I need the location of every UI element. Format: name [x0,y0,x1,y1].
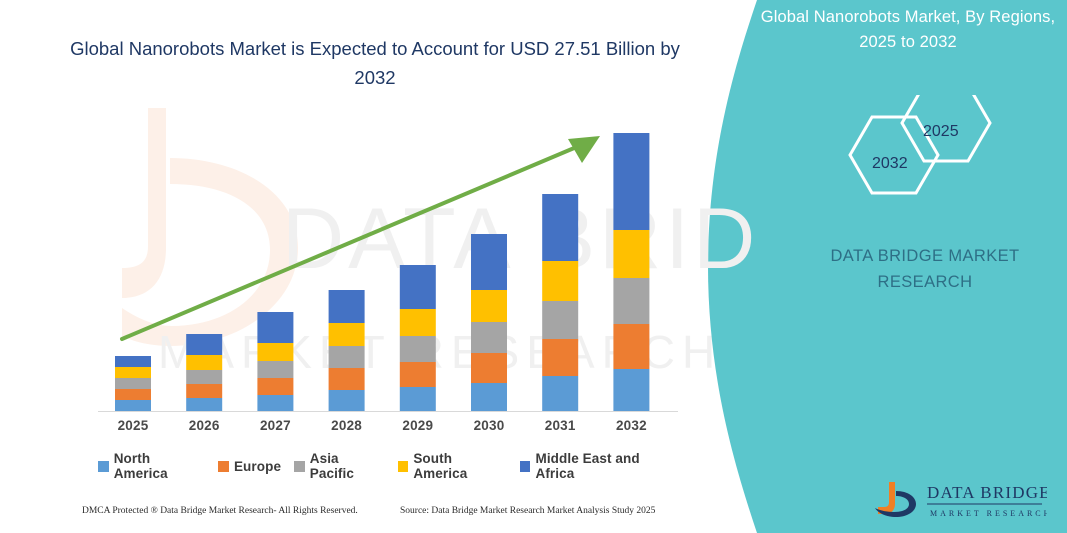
bar-segment [400,336,436,362]
bar-segment [186,370,222,384]
bar-segment [542,301,578,339]
bar-segment [257,395,293,411]
x-axis-label: 2027 [240,418,310,433]
bar-segment [329,390,365,411]
bar-segment [257,361,293,378]
bar-segment [400,265,436,309]
bar-segment [186,398,222,411]
legend-swatch-icon [294,461,305,472]
stacked-bar-chart [0,0,760,470]
bar-segment [471,290,507,322]
bar-segment [613,369,649,411]
hexagon-2032-label: 2032 [872,155,908,173]
legend-swatch-icon [218,461,229,472]
infographic-root: Global Nanorobots Market, By Regions, 20… [0,0,1067,533]
bar-segment [329,323,365,346]
bar-segment [115,356,151,367]
x-axis-label: 2031 [525,418,595,433]
data-bridge-logo: DATA BRIDGE MARKET RESEARCH [872,478,1047,522]
bar-segment [115,378,151,389]
logo-name-main: DATA BRIDGE [927,483,1047,502]
bar-segment [115,389,151,400]
bar-segment [471,353,507,383]
legend-label: North America [114,451,205,481]
bar-segment [329,368,365,390]
legend-label: Europe [234,459,281,474]
bar-segment [471,322,507,353]
legend-item[interactable]: Europe [218,459,281,474]
bar-segment [542,261,578,301]
legend-label: South America [413,451,506,481]
x-axis-label: 2028 [312,418,382,433]
chart-legend: North AmericaEuropeAsia PacificSouth Ame… [98,455,678,477]
panel-title: Global Nanorobots Market, By Regions, 20… [758,5,1058,55]
bar-segment [186,334,222,355]
footer-copyright: DMCA Protected ® Data Bridge Market Rese… [82,506,358,516]
panel-brand-line1: DATA BRIDGE MARKET [790,243,1060,269]
legend-item[interactable]: Middle East and Africa [520,451,678,481]
bar-segment [613,278,649,324]
x-axis-label: 2032 [596,418,666,433]
bar-segment [257,343,293,361]
legend-swatch-icon [520,461,531,472]
x-axis-label: 2030 [454,418,524,433]
legend-item[interactable]: North America [98,451,205,481]
footer: DMCA Protected ® Data Bridge Market Rese… [0,506,760,526]
bars-layer [115,133,649,411]
legend-item[interactable]: South America [398,451,507,481]
bar-segment [400,309,436,336]
bar-segment [186,355,222,370]
bar-segment [613,230,649,278]
bar-segment [613,133,649,230]
bar-segment [542,194,578,261]
legend-label: Asia Pacific [310,451,385,481]
legend-item[interactable]: Asia Pacific [294,451,385,481]
logo-name-sub: MARKET RESEARCH [930,509,1047,518]
legend-swatch-icon [398,461,409,472]
bar-segment [115,367,151,378]
x-axis-label: 2029 [383,418,453,433]
bar-segment [186,384,222,398]
bar-segment [471,234,507,290]
bar-segment [257,378,293,395]
bar-segment [329,290,365,323]
legend-label: Middle East and Africa [535,451,678,481]
hexagon-group: 2032 2025 [820,95,1050,215]
footer-source: Source: Data Bridge Market Research Mark… [400,506,655,516]
logo-mark-icon [875,482,916,517]
panel-brand-text: DATA BRIDGE MARKET RESEARCH [790,243,1060,295]
bar-segment [542,339,578,376]
bar-segment [257,312,293,343]
hexagon-2025-label: 2025 [923,123,959,141]
bar-segment [400,387,436,411]
bar-segment [329,346,365,368]
panel-brand-line2: RESEARCH [790,269,1060,295]
bar-segment [400,362,436,387]
x-axis-label: 2026 [169,418,239,433]
legend-swatch-icon [98,461,109,472]
x-axis-labels: 20252026202720282029203020312032 [0,418,760,444]
bar-segment [471,383,507,411]
bar-segment [542,376,578,411]
x-axis-label: 2025 [98,418,168,433]
bar-segment [613,324,649,369]
bar-segment [115,400,151,411]
